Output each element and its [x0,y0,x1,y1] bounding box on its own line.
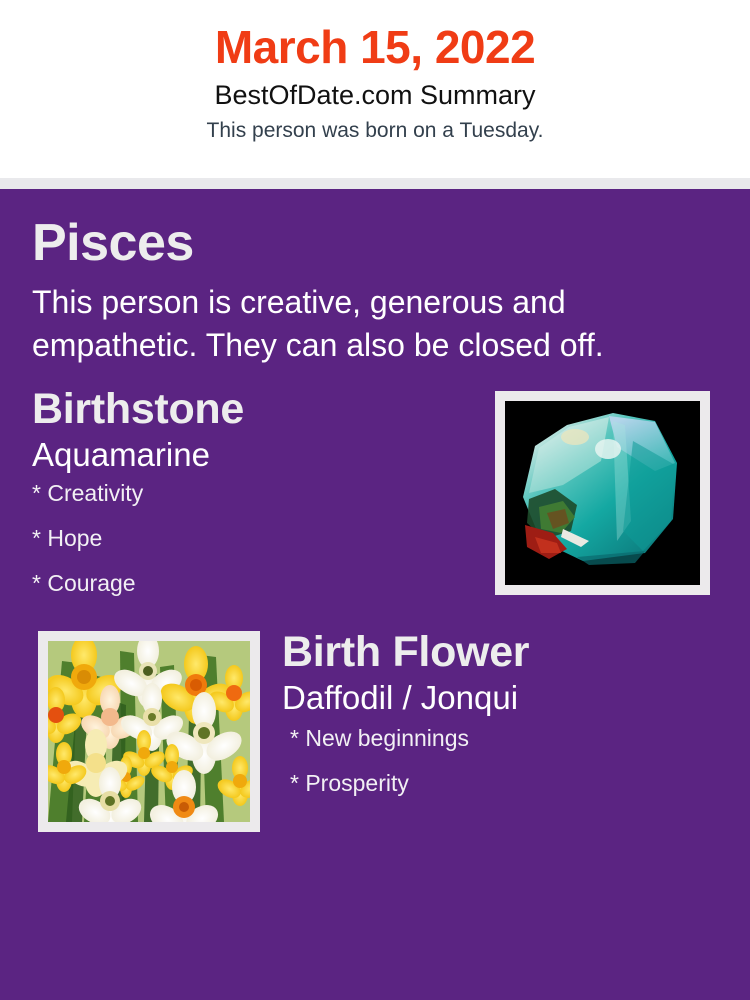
daffodil-field-icon [48,641,250,822]
birthstone-image-frame [495,391,710,595]
zodiac-sign-name: Pisces [32,217,718,269]
born-weekday-text: This person was born on a Tuesday. [0,117,750,145]
details-panel: Pisces This person is creative, generous… [0,189,750,1000]
card-header: March 15, 2022 BestOfDate.com Summary Th… [0,0,750,178]
birth-flower-image-frame [38,631,260,832]
birth-flower-trait-list: * New beginnings * Prosperity [282,727,732,795]
birthstone-trait-list: * Creativity * Hope * Courage [32,482,470,595]
list-item: * Courage [32,572,470,595]
birth-flower-name: Daffodil / Jonqui [282,680,732,717]
list-item: * Prosperity [290,772,732,795]
list-item: * Hope [32,527,470,550]
zodiac-section: Pisces This person is creative, generous… [0,189,750,366]
site-subtitle: BestOfDate.com Summary [0,78,750,114]
birth-flower-text-block: Birth Flower Daffodil / Jonqui * New beg… [282,631,732,817]
page-title: March 15, 2022 [0,22,750,74]
list-item: * Creativity [32,482,470,505]
birthstone-section: Birthstone Aquamarine * Creativity * Hop… [0,388,750,603]
list-item: * New beginnings [290,727,732,750]
header-divider [0,178,750,189]
birth-flower-section: Birth Flower Daffodil / Jonqui * New beg… [0,631,750,841]
aquamarine-crystal-icon [505,401,700,585]
birthstone-heading: Birthstone [32,388,470,431]
birthstone-name: Aquamarine [32,437,470,474]
birth-flower-heading: Birth Flower [282,631,732,674]
zodiac-description: This person is creative, generous and em… [32,281,704,366]
summary-card: March 15, 2022 BestOfDate.com Summary Th… [0,0,750,1000]
birthstone-text-block: Birthstone Aquamarine * Creativity * Hop… [0,388,470,595]
